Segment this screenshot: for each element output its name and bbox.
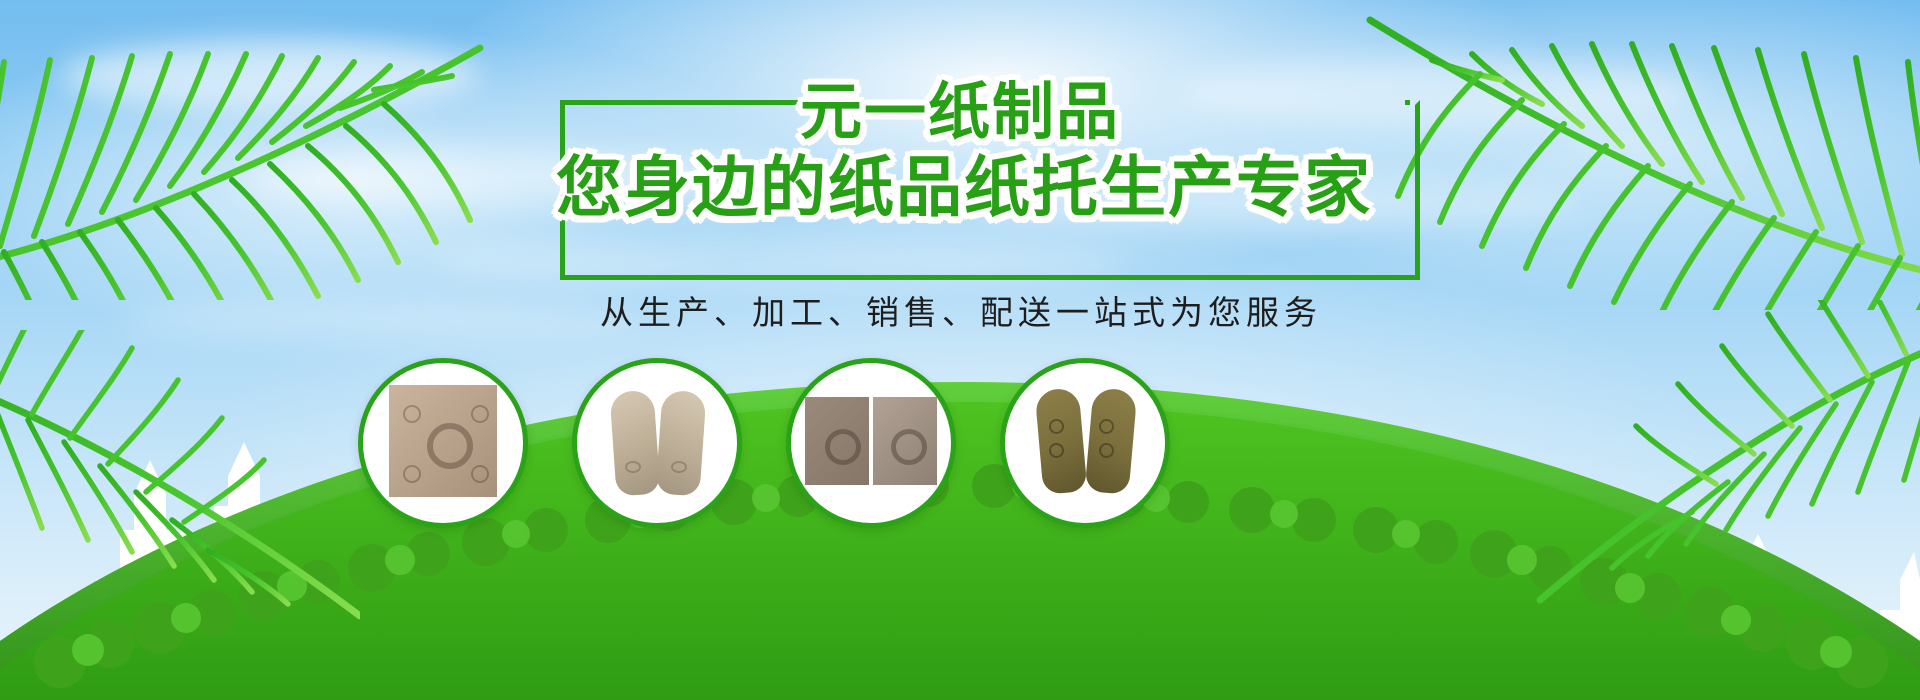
product-circle-shoe-tree-dark[interactable] — [1000, 358, 1170, 528]
paper-pulp-tray-image — [363, 363, 523, 523]
product-showcase — [0, 0, 1920, 700]
paper-pulp-shoe-tree-light-image — [577, 363, 737, 523]
product-circle-shoe-tree-light[interactable] — [572, 358, 742, 528]
promo-banner: 元一纸制品 您身边的纸品纸托生产专家 从生产、加工、销售、配送一站式为您服务 — [0, 0, 1920, 700]
product-circle-tray-pair[interactable] — [786, 358, 956, 528]
product-circle-paper-pulp-tray[interactable] — [358, 358, 528, 528]
paper-pulp-shoe-tree-dark-image — [1005, 363, 1165, 523]
paper-pulp-tray-pair-image — [791, 363, 951, 523]
